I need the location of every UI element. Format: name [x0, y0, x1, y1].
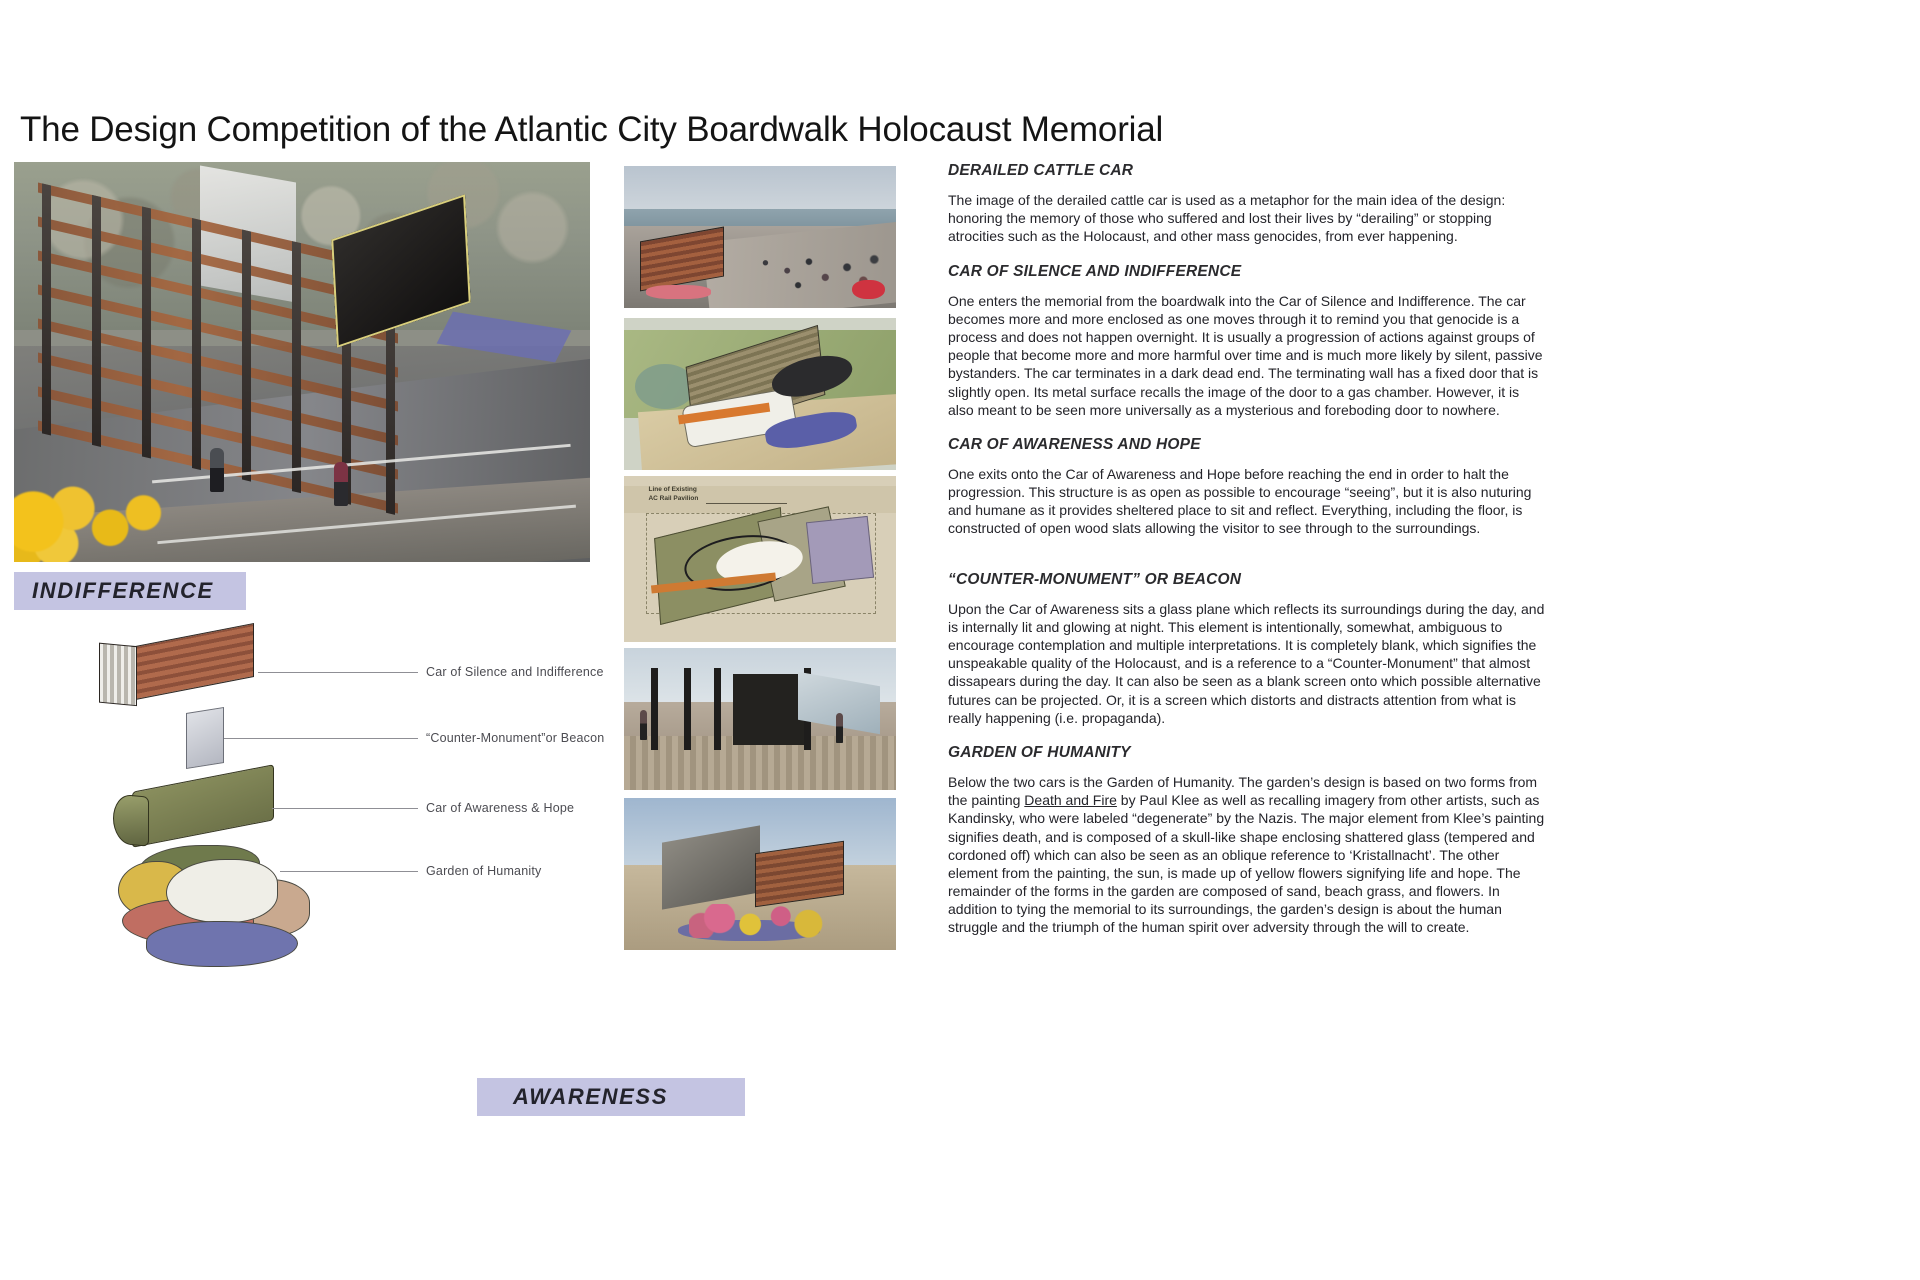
section-body-derailed-cattle-car: The image of the derailed cattle car is …	[948, 191, 1548, 246]
section-heading-derailed-cattle-car: DERAILED CATTLE CAR	[948, 162, 1548, 180]
section-heading-counter-monument: “COUNTER-MONUMENT” OR BEACON	[948, 571, 1548, 589]
exploded-label-garden-of-humanity: Garden of Humanity	[426, 864, 541, 878]
diagram-piece-car-of-awareness-icon	[132, 764, 274, 848]
section-body-car-of-silence: One enters the memorial from the boardwa…	[948, 292, 1548, 419]
hero-figure-person-2	[210, 448, 224, 492]
garden-body-post: by Paul Klee as well as recalling imager…	[948, 792, 1544, 935]
section-heading-car-of-silence: CAR OF SILENCE AND INDIFFERENCE	[948, 263, 1548, 281]
badge-awareness-label: AWARENESS	[513, 1084, 668, 1110]
leader-line-3	[272, 808, 418, 809]
exploded-label-counter-monument: “Counter-Monument”or Beacon	[426, 731, 604, 745]
center-image-garden-perspective	[624, 798, 896, 950]
diagram-piece-car-of-silence-icon	[120, 623, 254, 703]
page-title: The Design Competition of the Atlantic C…	[20, 110, 1520, 150]
presentation-board: The Design Competition of the Atlantic C…	[0, 0, 1920, 1280]
section-body-garden-of-humanity: Below the two cars is the Garden of Huma…	[948, 773, 1548, 937]
leader-line-2	[224, 738, 418, 739]
hero-figure-person-1	[334, 462, 348, 506]
hero-rendering-derailed-cattle-car	[14, 162, 590, 562]
center-image-interior-perspective	[624, 648, 896, 790]
badge-indifference: INDIFFERENCE	[14, 572, 246, 610]
center-image-aerial-site-view	[624, 318, 896, 470]
exploded-label-car-of-silence: Car of Silence and Indifference	[426, 665, 604, 679]
site-plan-annotation: Line of Existing AC Rail Pavilion	[648, 486, 698, 504]
leader-line-4	[280, 871, 418, 872]
diagram-piece-beacon-icon	[186, 707, 224, 769]
badge-awareness: AWARENESS	[477, 1078, 745, 1116]
section-body-counter-monument: Upon the Car of Awareness sits a glass p…	[948, 600, 1548, 727]
center-image-site-plan-diagram: Line of Existing AC Rail Pavilion	[624, 476, 896, 642]
section-heading-car-of-awareness: CAR OF AWARENESS AND HOPE	[948, 436, 1548, 454]
painting-title-death-and-fire: Death and Fire	[1024, 792, 1117, 808]
section-spacer	[948, 555, 1548, 571]
center-image-aerial-boardwalk-context	[624, 166, 896, 308]
description-text-column: DERAILED CATTLE CAR The image of the der…	[948, 162, 1548, 954]
diagram-piece-garden-icon	[112, 843, 322, 973]
leader-line-1	[258, 672, 418, 673]
badge-indifference-label: INDIFFERENCE	[32, 578, 214, 604]
exploded-label-car-of-awareness: Car of Awareness & Hope	[426, 801, 574, 815]
section-heading-garden-of-humanity: GARDEN OF HUMANITY	[948, 744, 1548, 762]
section-body-car-of-awareness: One exits onto the Car of Awareness and …	[948, 465, 1548, 538]
